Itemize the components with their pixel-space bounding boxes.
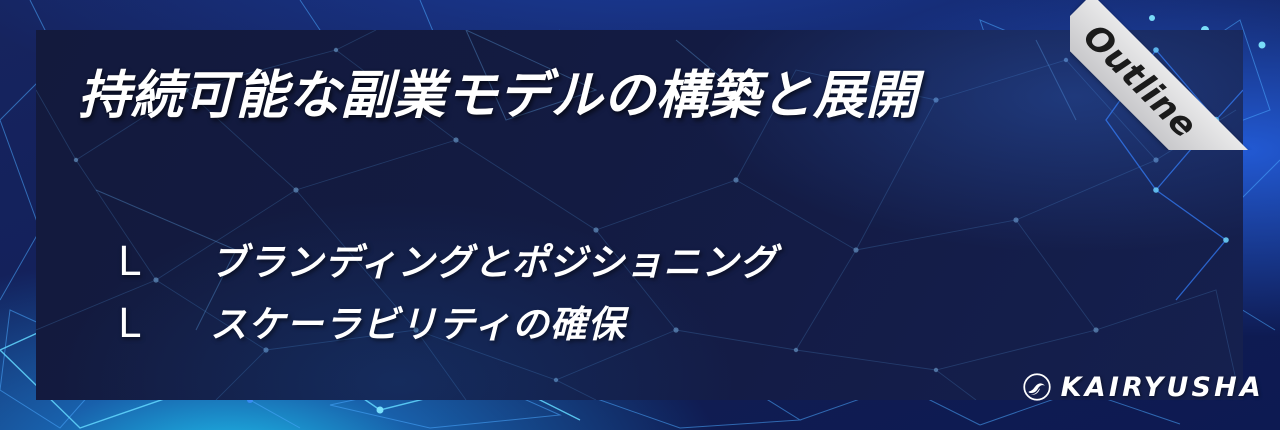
brand-logo: KAIRYUSHA xyxy=(1022,372,1264,402)
outline-list: L ブランディングとポジショニング L スケーラビリティの確保 xyxy=(118,232,777,356)
list-item-label: ブランディングとポジショニング xyxy=(210,232,777,286)
list-item[interactable]: L スケーラビリティの確保 xyxy=(118,294,777,356)
ribbon-label: Outline xyxy=(1077,19,1202,144)
page-title: 持続可能な副業モデルの構築と展開 xyxy=(78,68,918,125)
slide-root: 持続可能な副業モデルの構築と展開 L ブランディングとポジショニング L スケー… xyxy=(0,0,1280,430)
ribbon-band: Outline xyxy=(1070,0,1280,150)
wave-circle-logo-icon xyxy=(1022,372,1052,402)
bullet-marker-icon: L xyxy=(118,239,210,285)
corner-ribbon[interactable]: Outline xyxy=(1070,0,1280,150)
brand-logo-text: KAIRYUSHA xyxy=(1061,374,1264,401)
list-item-label: スケーラビリティの確保 xyxy=(210,294,626,348)
list-item[interactable]: L ブランディングとポジショニング xyxy=(118,232,777,294)
bullet-marker-icon: L xyxy=(118,301,210,347)
